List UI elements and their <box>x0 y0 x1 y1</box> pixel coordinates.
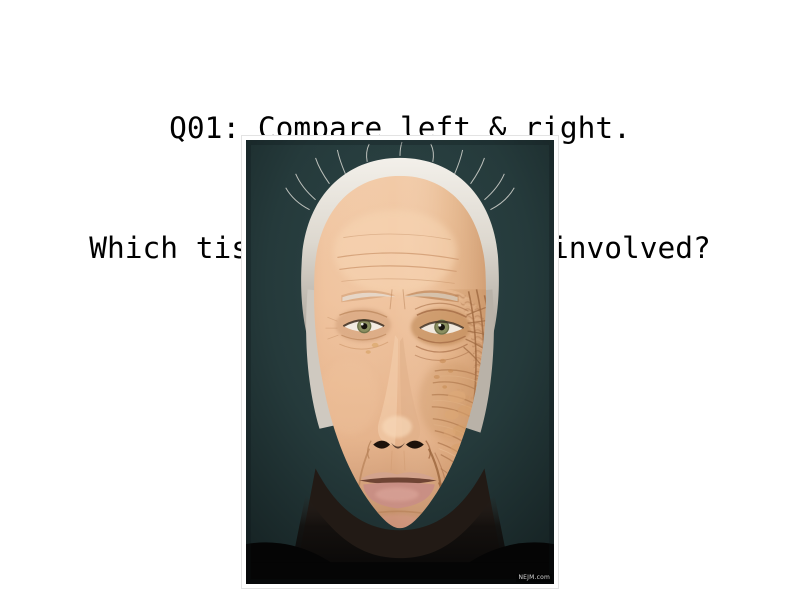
nejm-watermark: NEJM.com <box>516 574 552 582</box>
face-illustration <box>246 140 554 584</box>
clinical-photo-frame: NEJM.com <box>241 135 559 589</box>
slide-canvas: Q01: Compare left & right. Which tissue … <box>0 0 800 600</box>
clinical-photo: NEJM.com <box>246 140 554 584</box>
